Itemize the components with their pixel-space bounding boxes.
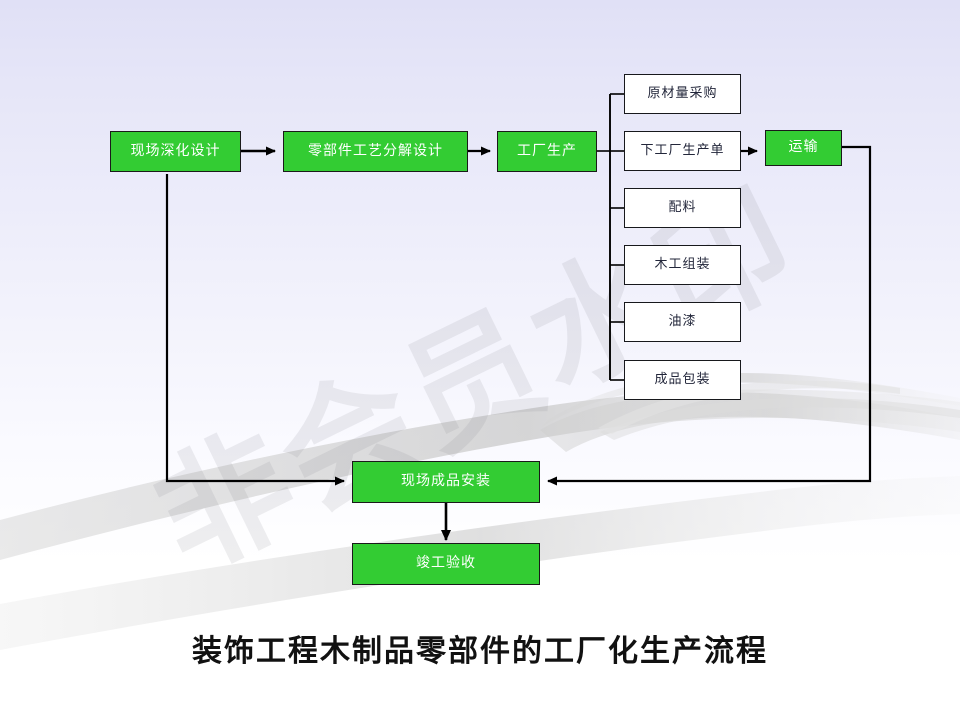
node-raw-material-purchase[interactable]: 原材量采购 [624, 74, 741, 114]
node-factory-order[interactable]: 下工厂生产单 [624, 131, 741, 171]
flow-connectors [0, 0, 960, 720]
node-site-design-label: 现场深化设计 [131, 144, 221, 159]
node-part-process-label: 零部件工艺分解设计 [308, 144, 443, 159]
node-factory-produce[interactable]: 工厂生产 [497, 131, 597, 172]
node-raw-material-purchase-label: 原材量采购 [647, 87, 717, 101]
node-site-install-label: 现场成品安装 [401, 474, 491, 489]
node-final-accept[interactable]: 竣工验收 [352, 543, 540, 585]
node-finished-packaging-label: 成品包装 [654, 373, 710, 387]
node-transport-label: 运输 [789, 140, 819, 155]
node-material-prep[interactable]: 配料 [624, 188, 741, 228]
slide-canvas: 非会员水印 [0, 0, 960, 720]
node-site-install[interactable]: 现场成品安装 [352, 461, 540, 503]
node-material-prep-label: 配料 [668, 201, 696, 215]
node-finished-packaging[interactable]: 成品包装 [624, 360, 741, 400]
node-woodwork-assembly-label: 木工组装 [654, 258, 710, 272]
node-woodwork-assembly[interactable]: 木工组装 [624, 245, 741, 285]
node-part-process[interactable]: 零部件工艺分解设计 [283, 131, 468, 172]
node-final-accept-label: 竣工验收 [416, 556, 476, 571]
node-paint-label: 油漆 [668, 315, 696, 329]
node-transport[interactable]: 运输 [765, 130, 842, 166]
page-title: 装饰工程木制品零部件的工厂化生产流程 [0, 626, 960, 670]
node-factory-produce-label: 工厂生产 [517, 144, 577, 159]
background-decoration [0, 0, 960, 720]
node-factory-order-label: 下工厂生产单 [640, 144, 724, 158]
node-site-design[interactable]: 现场深化设计 [110, 131, 241, 172]
node-paint[interactable]: 油漆 [624, 302, 741, 342]
